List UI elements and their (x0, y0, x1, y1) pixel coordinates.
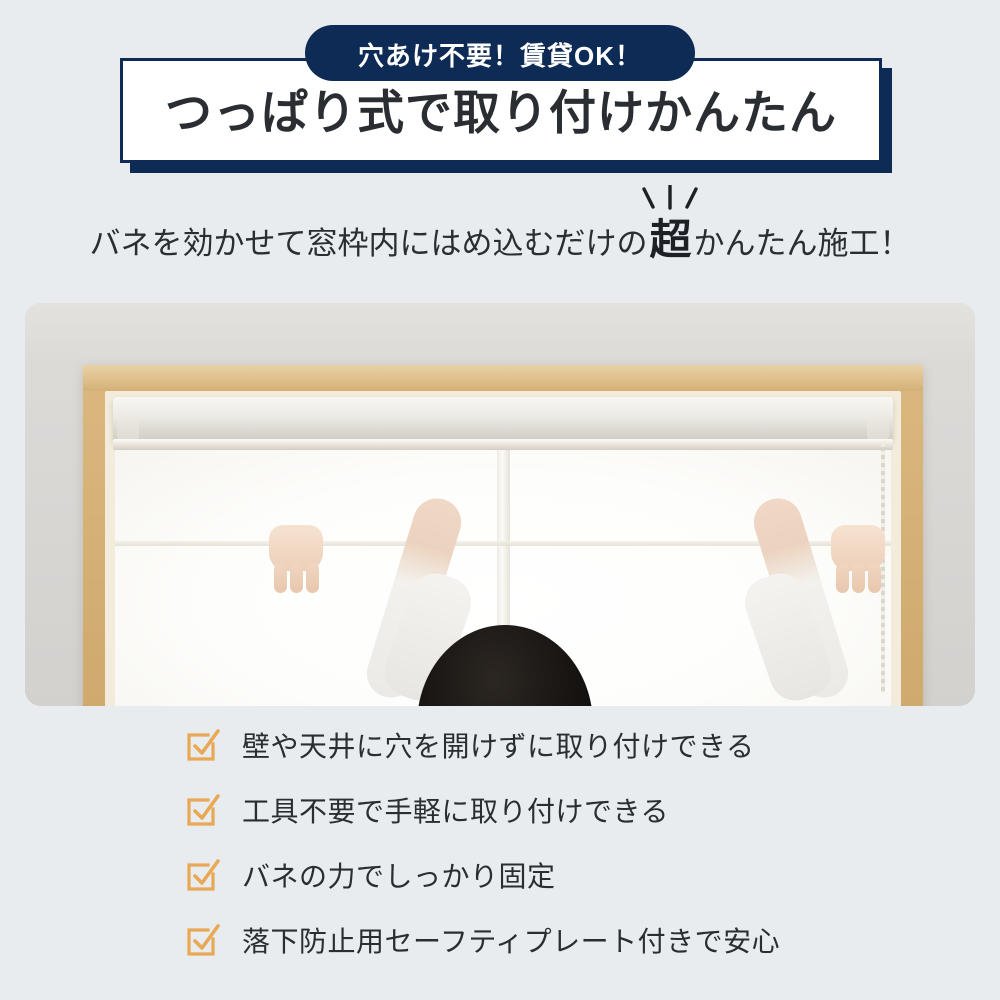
subtitle-emphasis-char: 超 (647, 219, 693, 261)
finger (274, 563, 287, 593)
roller-blind-end-cap-right (867, 401, 889, 441)
emphasis-marks-icon (635, 185, 705, 215)
feature-item-3: 落下防止用セーフティプレート付きで安心 (0, 917, 1000, 963)
page-title: つっぱり式で取り付けかんたん (165, 89, 837, 136)
person-hand-left (269, 525, 323, 571)
checkbox-checked-icon (186, 728, 220, 762)
finger (306, 563, 319, 593)
checkbox-checked-icon (186, 793, 220, 827)
badge-label: 穴あけ不要！賃貸OK！ (358, 36, 642, 73)
product-photo (25, 303, 975, 706)
header-banner: つっぱり式で取り付けかんたん 穴あけ不要！賃貸OK！ (0, 0, 1000, 185)
finger (868, 563, 881, 593)
subtitle-emphasis-holder: 超 (647, 219, 693, 262)
subtitle-row: バネを効かせて窓枠内にはめ込むだけの 超 かんたん施工！ (0, 205, 1000, 275)
window-wood-frame (83, 365, 923, 706)
subtitle: バネを効かせて窓枠内にはめ込むだけの 超 かんたん施工！ (89, 218, 910, 263)
roller-blind-bead-chain (881, 443, 885, 693)
roller-blind-end-cap-left (117, 401, 139, 441)
window-frame-top-face (83, 365, 923, 391)
finger (290, 563, 303, 593)
checkbox-checked-icon (186, 858, 220, 892)
roller-blind-tube (113, 397, 893, 441)
checkbox-checked-icon (186, 923, 220, 957)
photo-ceiling-shade (25, 303, 975, 363)
feature-item-2: バネの力でしっかり固定 (0, 852, 1000, 898)
badge-pill: 穴あけ不要！賃貸OK！ (305, 25, 695, 81)
feature-list: 壁や天井に穴を開けずに取り付けできる 工具不要で手軽に取り付けできる バネの力で… (0, 722, 1000, 982)
feature-label: バネの力でしっかり固定 (242, 855, 556, 895)
subtitle-before: バネを効かせて窓枠内にはめ込むだけの (89, 218, 647, 263)
feature-item-1: 工具不要で手軽に取り付けできる (0, 787, 1000, 833)
finger (836, 563, 849, 593)
feature-label: 壁や天井に穴を開けずに取り付けできる (242, 725, 754, 765)
subtitle-after: かんたん施工！ (694, 218, 911, 263)
feature-item-0: 壁や天井に穴を開けずに取り付けできる (0, 722, 1000, 768)
finger (852, 563, 865, 593)
feature-label: 落下防止用セーフティプレート付きで安心 (242, 920, 780, 960)
promo-page: つっぱり式で取り付けかんたん 穴あけ不要！賃貸OK！ バネを効かせて窓枠内にはめ… (0, 0, 1000, 1000)
roller-blind-bottom-bar (113, 439, 893, 450)
feature-label: 工具不要で手軽に取り付けできる (242, 790, 669, 830)
window-inner-frame (105, 391, 901, 706)
person-hand-right (831, 525, 885, 571)
